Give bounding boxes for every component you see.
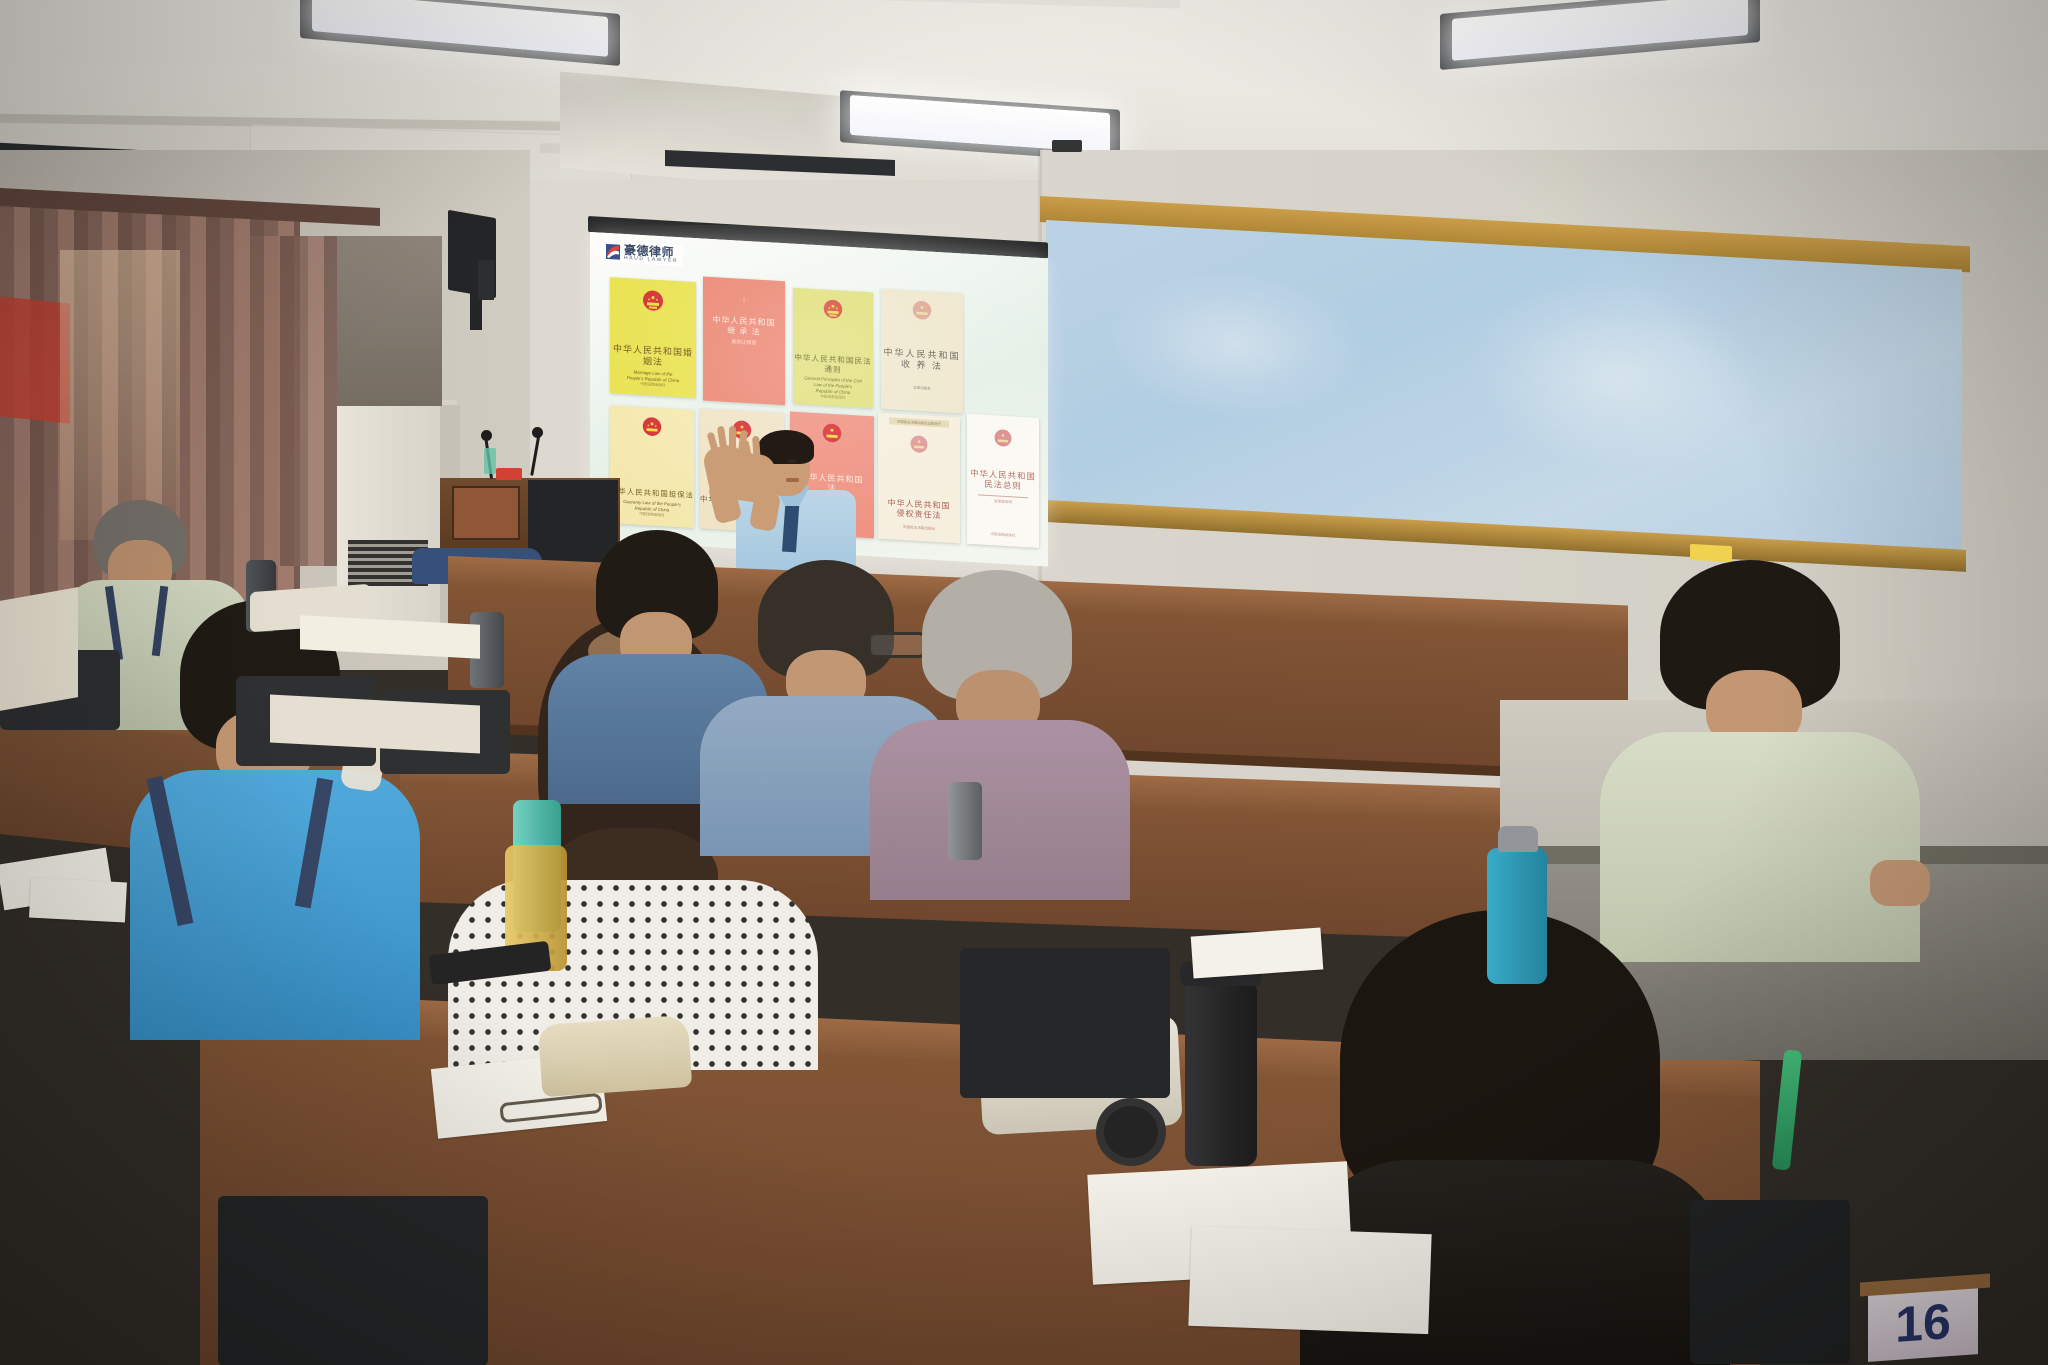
cabinet-panel xyxy=(452,486,520,540)
black-thermos[interactable] xyxy=(1185,980,1257,1166)
book-subtitle: 含草案说明 xyxy=(994,499,1012,505)
green-marker[interactable] xyxy=(1772,1049,1802,1170)
handout-paper-3[interactable] xyxy=(1188,1226,1431,1334)
beige-bag[interactable] xyxy=(538,1015,693,1097)
sport-bottle-cap xyxy=(1498,826,1538,852)
book-subtitle: 案例注释版 xyxy=(731,338,756,346)
slide-logo-en: HAUD LAWYER xyxy=(624,256,678,264)
handout-paper-6[interactable] xyxy=(29,878,127,923)
book-title-cn: 中华人民共和国 侵权责任法 xyxy=(878,498,960,523)
microphone-head-1 xyxy=(481,430,492,441)
classroom-scene: 豪德律师 HAUD LAWYER 中华人民共和国婚姻法 Marriage Law… xyxy=(0,0,2048,1365)
slide-book-marriage-law: 中华人民共和国婚姻法 Marriage Law of the People's … xyxy=(610,277,696,398)
attendee-mauve xyxy=(870,570,1130,900)
chair-center[interactable] xyxy=(960,948,1170,1098)
book-title-cn: 中华人民共和国 继 承 法 xyxy=(713,315,776,339)
blackboard-smudge-2 xyxy=(1466,273,1766,479)
left-paper-stack xyxy=(0,587,78,711)
national-emblem-icon xyxy=(910,299,934,324)
book-title-cn: 中华人民共和国婚姻法 xyxy=(610,343,696,370)
chair-front-left[interactable] xyxy=(218,1196,488,1365)
red-device xyxy=(496,468,522,480)
book-publisher: 中国民主法制出版社 xyxy=(878,524,960,534)
attendee-blue xyxy=(130,600,420,1040)
slide-book-civil-code-general-provisions: 中华人民共和国 民法总则 含草案说明 中国法制出版社 xyxy=(967,414,1039,548)
slide-book-banner: 中国民主法制出版社出版发行 xyxy=(889,417,948,427)
attendee-shirt xyxy=(870,720,1130,900)
national-emblem-icon xyxy=(908,433,930,456)
national-emblem-icon xyxy=(992,427,1014,450)
slide-book-succession-law: · | · 中华人民共和国 继 承 法 案例注释版 xyxy=(703,277,785,406)
slide-book-adoption-law: 中华人民共和国 收 养 法 法律出版社 xyxy=(881,289,963,414)
lecturer-eye xyxy=(788,460,796,463)
slide-book-guaranty-law: 中华人民共和国担保法 Guaranty Law of the People's … xyxy=(610,405,694,528)
ac-upper-duct xyxy=(337,236,442,406)
slide-book-tort-liability-law: 中国民主法制出版社出版发行 中华人民共和国 侵权责任法 中国民主法制出版社 xyxy=(878,413,960,544)
slide-logo: 豪德律师 HAUD LAWYER xyxy=(600,241,683,267)
haud-lawyer-logo-icon xyxy=(605,243,621,261)
book-title-cn: 中华人民共和国民法通则 xyxy=(793,353,873,377)
green-bottle xyxy=(484,448,496,474)
slide-logo-text: 豪德律师 HAUD LAWYER xyxy=(624,244,678,264)
lecturer-finger-3 xyxy=(729,426,736,456)
bag-strap-ring xyxy=(1096,1098,1166,1166)
steel-bottle-center[interactable] xyxy=(948,782,982,860)
blackboard-smudge-1 xyxy=(1106,263,1366,427)
slide-book-civil-law-principles: 中华人民共和国民法通则 General Principles of the Ci… xyxy=(793,288,873,409)
book-ornament: · | · xyxy=(740,297,749,304)
teal-sport-bottle[interactable] xyxy=(1487,848,1547,984)
national-emblem-icon xyxy=(640,287,666,314)
seat-number-placard: 16 xyxy=(1868,1284,1978,1362)
attendee-hand xyxy=(1870,860,1930,906)
national-emblem-icon xyxy=(640,415,664,440)
book-subtitle: 法律出版社 xyxy=(913,385,931,391)
attendee-right xyxy=(1600,560,1920,960)
book-title-cn: 中华人民共和国 收 养 法 xyxy=(883,347,960,374)
window-glow xyxy=(60,250,180,540)
speaker-mount-bracket xyxy=(478,260,494,300)
ceiling-sensor xyxy=(1052,140,1082,152)
chair-front-right[interactable] xyxy=(1690,1200,1850,1364)
lecturer-mouth xyxy=(786,478,799,482)
microphone-head-2 xyxy=(532,427,543,438)
book-title-cn: 中华人民共和国担保法 xyxy=(610,486,694,500)
book-title-cn: 中华人民共和国 民法总则 xyxy=(970,467,1036,492)
book-rule xyxy=(978,494,1028,498)
book-publisher: 中国法制出版社 xyxy=(990,532,1015,538)
national-emblem-icon xyxy=(821,297,845,322)
